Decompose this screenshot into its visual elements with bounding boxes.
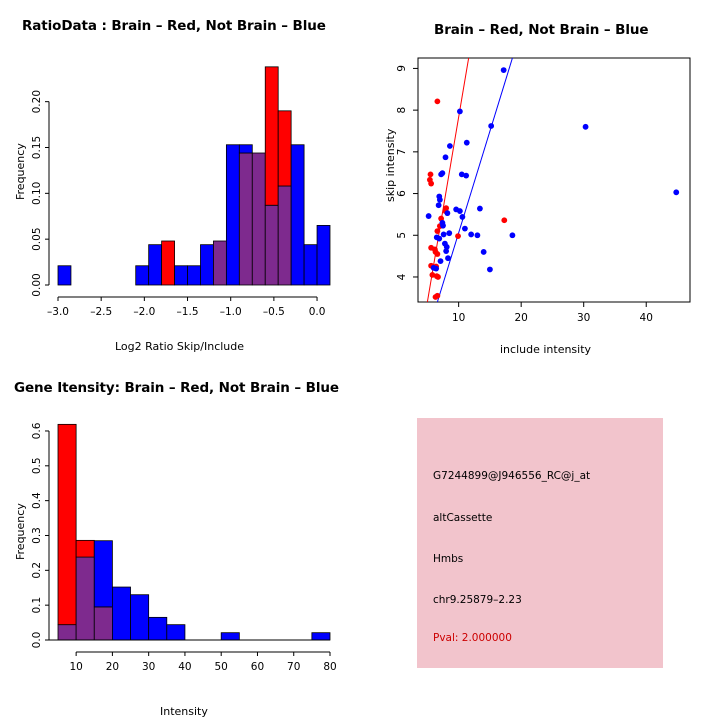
scatter-point bbox=[487, 267, 493, 273]
scatter-point bbox=[501, 67, 507, 73]
scatter-plot: 45678910203040 bbox=[360, 20, 720, 350]
ratio-bar-not-brain bbox=[58, 266, 71, 285]
scatter-point bbox=[457, 108, 463, 114]
scatter-x-tick-label: 40 bbox=[640, 312, 653, 324]
scatter-point bbox=[439, 170, 445, 176]
ratio-x-tick-label: –1.5 bbox=[177, 306, 199, 318]
gene-x-tick-label: 20 bbox=[106, 661, 119, 673]
scatter-x-tick-label: 20 bbox=[514, 312, 527, 324]
ratio-bar-not-brain bbox=[304, 245, 317, 285]
scatter-point bbox=[462, 226, 468, 232]
gene-bar-not-brain bbox=[312, 633, 330, 640]
ratio-x-tick-label: –0.5 bbox=[263, 306, 285, 318]
info-line-probeset: G7244899@J946556_RC@j_at bbox=[433, 470, 590, 482]
scatter-y-tick-label: 6 bbox=[396, 190, 408, 197]
gene-y-tick-label: 0.0 bbox=[31, 632, 43, 649]
scatter-point bbox=[443, 154, 449, 160]
scatter-point bbox=[434, 251, 440, 257]
info-line-event-type: altCassette bbox=[433, 512, 492, 524]
gene-y-tick-label: 0.3 bbox=[31, 527, 43, 544]
ratio-bar-not-brain bbox=[200, 245, 213, 285]
scatter-point bbox=[673, 189, 679, 195]
scatter-y-tick-label: 5 bbox=[396, 232, 408, 239]
ratio-bar-overlap bbox=[265, 205, 278, 285]
gene-bar-brain bbox=[76, 540, 94, 557]
ratio-bar-overlap bbox=[213, 241, 226, 285]
gene-histogram-plot: 0.00.10.20.30.40.50.61020304050607080 bbox=[0, 382, 360, 712]
gene-y-tick-label: 0.2 bbox=[31, 562, 43, 579]
scatter-point bbox=[501, 217, 507, 223]
gene-y-tick-label: 0.5 bbox=[31, 457, 43, 474]
scatter-point bbox=[477, 206, 483, 212]
gene-x-tick-label: 40 bbox=[178, 661, 191, 673]
scatter-point bbox=[434, 98, 440, 104]
gene-bar-not-brain bbox=[149, 617, 167, 640]
ratio-bar-brain bbox=[162, 241, 175, 285]
scatter-point bbox=[446, 230, 452, 236]
scatter-point bbox=[437, 197, 443, 203]
ratio-x-tick-label: –2.0 bbox=[133, 306, 155, 318]
scatter-point bbox=[434, 228, 440, 234]
gene-x-tick-label: 30 bbox=[142, 661, 155, 673]
ratio-y-tick-label: 0.15 bbox=[31, 136, 43, 159]
ratio-bar-not-brain bbox=[188, 266, 201, 285]
scatter-point bbox=[481, 249, 487, 255]
ratio-bar-not-brain bbox=[239, 145, 252, 153]
panel-info: G7244899@J946556_RC@j_at altCassette Hmb… bbox=[360, 360, 720, 720]
scatter-point bbox=[447, 143, 453, 149]
panel-gene-histogram: Gene Itensity: Brain – Red, Not Brain – … bbox=[0, 360, 360, 720]
gene-bar-not-brain bbox=[167, 625, 185, 640]
panel-scatter: Brain – Red, Not Brain – Blue skip inten… bbox=[360, 0, 720, 360]
ratio-x-tick-label: 0.0 bbox=[309, 306, 326, 318]
scatter-point bbox=[445, 255, 451, 261]
gene-bar-not-brain bbox=[221, 633, 239, 640]
gene-bar-overlap bbox=[76, 557, 94, 640]
info-line-pvalue: Pval: 2.000000 bbox=[433, 632, 512, 644]
scatter-point bbox=[583, 124, 589, 130]
ratio-bar-not-brain bbox=[175, 266, 188, 285]
scatter-point bbox=[464, 140, 470, 146]
gene-bar-overlap bbox=[94, 607, 112, 640]
scatter-y-tick-label: 8 bbox=[396, 107, 408, 114]
ratio-bar-overlap bbox=[252, 153, 265, 285]
ratio-bar-not-brain bbox=[291, 145, 304, 285]
ratio-bar-overlap bbox=[278, 186, 291, 285]
ratio-bar-brain bbox=[265, 67, 278, 205]
scatter-point bbox=[459, 214, 465, 220]
scatter-frame bbox=[418, 58, 690, 302]
panel-ratio-histogram: RatioData : Brain – Red, Not Brain – Blu… bbox=[0, 0, 360, 360]
gene-y-tick-label: 0.1 bbox=[31, 597, 43, 614]
scatter-point bbox=[443, 248, 449, 254]
gene-y-tick-label: 0.6 bbox=[31, 422, 43, 439]
gene-bar-not-brain bbox=[131, 595, 149, 640]
ratio-bar-not-brain bbox=[226, 145, 239, 285]
ratio-y-tick-label: 0.00 bbox=[31, 273, 43, 296]
info-box-background bbox=[417, 418, 663, 668]
scatter-point bbox=[475, 232, 481, 238]
scatter-point bbox=[441, 232, 447, 238]
scatter-x-tick-label: 10 bbox=[452, 312, 465, 324]
scatter-x-tick-label: 30 bbox=[577, 312, 590, 324]
gene-bars bbox=[58, 424, 330, 640]
scatter-point bbox=[433, 266, 439, 272]
scatter-fit-line-not-brain-fit bbox=[437, 58, 512, 302]
scatter-point bbox=[438, 258, 444, 264]
scatter-y-tick-label: 7 bbox=[396, 149, 408, 156]
ratio-x-tick-label: –2.5 bbox=[90, 306, 112, 318]
scatter-point bbox=[426, 213, 432, 219]
scatter-point bbox=[444, 210, 450, 216]
scatter-y-tick-label: 9 bbox=[396, 65, 408, 72]
scatter-point bbox=[435, 274, 441, 280]
ratio-histogram-plot: 0.000.050.100.150.20–3.0–2.5–2.0–1.5–1.0… bbox=[0, 20, 360, 350]
info-line-locus: chr9.25879–2.23 bbox=[433, 594, 522, 606]
gene-y-tick-label: 0.4 bbox=[31, 492, 43, 509]
scatter-point bbox=[436, 202, 442, 208]
gene-bar-not-brain bbox=[112, 587, 130, 640]
scatter-point bbox=[463, 173, 469, 179]
gene-x-tick-label: 60 bbox=[251, 661, 264, 673]
scatter-point bbox=[440, 223, 446, 229]
scatter-points-group bbox=[426, 58, 679, 302]
scatter-point bbox=[488, 123, 494, 129]
scatter-point bbox=[510, 232, 516, 238]
scatter-point bbox=[457, 208, 463, 214]
gene-bar-brain bbox=[58, 424, 76, 624]
gene-x-tick-label: 50 bbox=[215, 661, 228, 673]
scatter-y-tick-label: 4 bbox=[396, 273, 408, 280]
ratio-bar-brain bbox=[278, 111, 291, 186]
ratio-y-tick-label: 0.20 bbox=[31, 90, 43, 113]
scatter-point bbox=[428, 181, 434, 187]
ratio-bar-not-brain bbox=[317, 225, 330, 285]
ratio-bar-overlap bbox=[239, 153, 252, 285]
gene-bar-overlap bbox=[58, 625, 76, 640]
gene-x-tick-label: 80 bbox=[323, 661, 336, 673]
ratio-bars bbox=[58, 67, 330, 285]
ratio-y-tick-label: 0.05 bbox=[31, 227, 43, 250]
ratio-bar-not-brain bbox=[149, 245, 162, 285]
scatter-point bbox=[455, 233, 461, 239]
gene-bar-not-brain bbox=[94, 541, 112, 607]
info-line-gene-symbol: Hmbs bbox=[433, 553, 463, 565]
scatter-point bbox=[428, 171, 434, 177]
scatter-point bbox=[468, 232, 474, 238]
scatter-point bbox=[433, 294, 439, 300]
ratio-x-tick-label: –1.0 bbox=[220, 306, 242, 318]
ratio-x-tick-label: –3.0 bbox=[47, 306, 69, 318]
gene-x-tick-label: 10 bbox=[69, 661, 82, 673]
scatter-point bbox=[436, 236, 442, 242]
gene-x-tick-label: 70 bbox=[287, 661, 300, 673]
ratio-y-tick-label: 0.10 bbox=[31, 182, 43, 205]
ratio-bar-not-brain bbox=[136, 266, 149, 285]
